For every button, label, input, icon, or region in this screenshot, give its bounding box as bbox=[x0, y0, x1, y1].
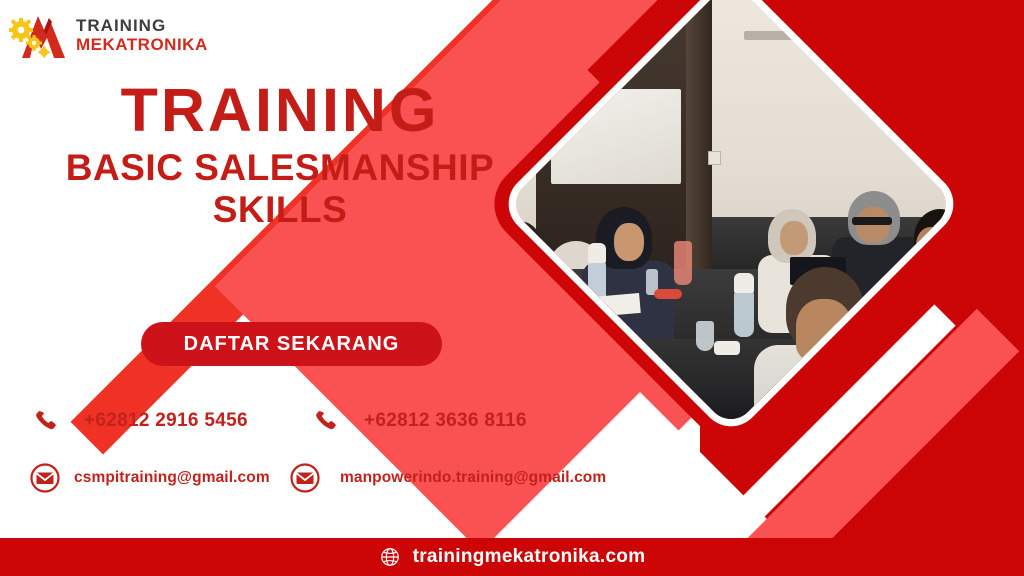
training-photo-scene bbox=[506, 0, 956, 429]
person-body bbox=[898, 261, 956, 361]
red-object bbox=[654, 289, 682, 299]
page-title: TRAINING bbox=[0, 78, 560, 142]
brand-logo-line1: TRAINING bbox=[76, 17, 208, 34]
brand-logo[interactable]: TRAINING MEKATRONIKA bbox=[8, 8, 208, 60]
person-body bbox=[754, 345, 924, 429]
person-body bbox=[506, 269, 556, 349]
contact-phone-2[interactable]: +62812 3636 8116 bbox=[300, 406, 527, 436]
brand-logo-line2: MEKATRONIKA bbox=[76, 36, 208, 53]
phone-icon bbox=[32, 406, 62, 436]
page-subtitle-line2: SKILLS bbox=[0, 189, 560, 232]
cup-saucer bbox=[714, 341, 740, 355]
page-subtitle-line1: BASIC SALESMANSHIP bbox=[0, 148, 560, 189]
eyeglasses bbox=[852, 217, 892, 225]
email-row: csmpitraining@gmail.com manpowerindo.tra… bbox=[0, 454, 720, 502]
person-face bbox=[916, 227, 948, 267]
phone-row: +62812 2916 5456 +62812 3636 8116 bbox=[0, 396, 720, 446]
email-address-2: manpowerindo.training@gmail.com bbox=[340, 469, 606, 487]
carafe-lid bbox=[588, 243, 606, 263]
drinking-glass bbox=[696, 321, 714, 351]
brand-logo-text: TRAINING MEKATRONIKA bbox=[76, 15, 208, 53]
envelope-icon bbox=[28, 461, 62, 495]
phone-number-1: +62812 2916 5456 bbox=[84, 410, 248, 432]
contact-email-1[interactable]: csmpitraining@gmail.com bbox=[0, 461, 288, 495]
headline-block: TRAINING BASIC SALESMANSHIP SKILLS bbox=[0, 78, 560, 231]
paper-document bbox=[554, 306, 597, 324]
ceiling-vent bbox=[744, 31, 820, 40]
photo-frame-inner bbox=[496, 0, 966, 439]
promotional-banner: TRAINING MEKATRONIKA TRAINING BASIC SALE… bbox=[0, 0, 1024, 576]
training-photo bbox=[506, 0, 956, 429]
footer-bar: trainingmekatronika.com bbox=[0, 538, 1024, 576]
globe-icon bbox=[379, 546, 401, 568]
person-face bbox=[506, 233, 536, 273]
contact-phone-1[interactable]: +62812 2916 5456 bbox=[0, 406, 300, 436]
register-button[interactable]: DAFTAR SEKARANG bbox=[141, 322, 442, 366]
contact-info: +62812 2916 5456 +62812 3636 8116 bbox=[0, 396, 720, 502]
person-face bbox=[780, 221, 808, 255]
contact-email-2[interactable]: manpowerindo.training@gmail.com bbox=[288, 461, 606, 495]
phone-number-2: +62812 3636 8116 bbox=[364, 410, 527, 432]
paper-document bbox=[591, 293, 641, 317]
person-arm bbox=[796, 317, 836, 361]
website-url[interactable]: trainingmekatronika.com bbox=[413, 546, 646, 568]
envelope-icon bbox=[288, 461, 322, 495]
water-carafe bbox=[734, 291, 754, 337]
water-carafe bbox=[674, 241, 692, 285]
wall-outlet bbox=[708, 151, 721, 165]
email-address-1: csmpitraining@gmail.com bbox=[74, 469, 270, 487]
person-face bbox=[614, 223, 644, 261]
phone-icon bbox=[312, 406, 342, 436]
carafe-lid bbox=[734, 273, 754, 293]
gear-m-logo-icon bbox=[8, 8, 70, 60]
projector-screen bbox=[551, 89, 681, 184]
